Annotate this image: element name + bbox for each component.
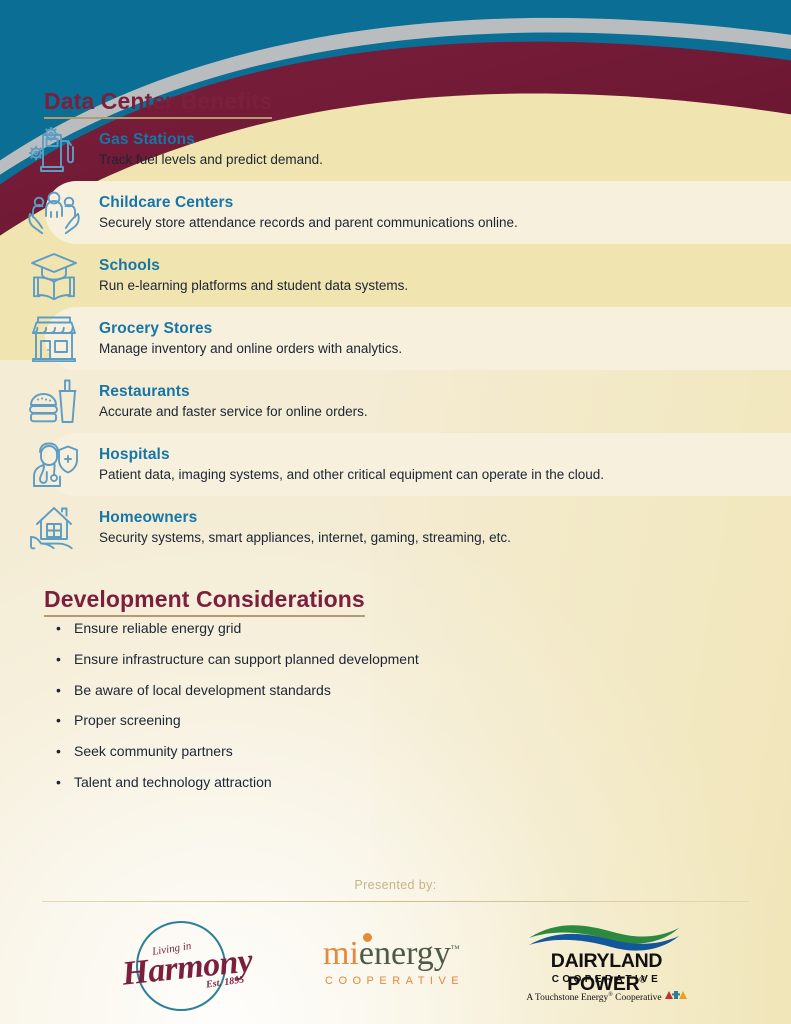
benefits-list: Gas Stations Track fuel levels and predi… [0,118,791,559]
list-item-label: Ensure infrastructure can support planne… [74,651,419,668]
benefit-row-restaurants[interactable]: Restaurants Accurate and faster service … [0,370,791,433]
benefit-row-gas-stations[interactable]: Gas Stations Track fuel levels and predi… [0,118,791,181]
benefit-title: Childcare Centers [99,194,518,212]
benefit-description: Run e-learning platforms and student dat… [99,278,408,294]
benefit-description: Accurate and faster service for online o… [99,404,368,420]
benefit-row-homeowners[interactable]: Homeowners Security systems, smart appli… [0,496,791,559]
benefit-text: Childcare Centers Securely store attenda… [99,194,518,231]
touchstone-text: A Touchstone Energy [526,993,608,1003]
content-layer: Data Center Benefits [0,0,791,1024]
benefit-title: Restaurants [99,383,368,401]
benefits-heading: Data Center Benefits [44,88,272,119]
list-item: • Seek community partners [56,743,656,760]
benefit-row-schools[interactable]: Schools Run e-learning platforms and stu… [0,244,791,307]
benefit-row-hospitals[interactable]: Hospitals Patient data, imaging systems,… [0,433,791,496]
bullet-glyph: • [56,620,74,637]
list-item: • Be aware of local development standard… [56,682,656,699]
benefit-description: Track fuel levels and predict demand. [99,152,323,168]
list-item: • Ensure reliable energy grid [56,620,656,637]
house-in-hand-icon [17,499,91,557]
touchstone-tail: Cooperative [613,993,662,1003]
benefits-heading-text: Data Center Benefits [44,88,272,119]
list-item-label: Seek community partners [74,743,233,760]
graduation-cap-book-icon [17,247,91,305]
benefit-title: Hospitals [99,446,604,464]
storefront-awning-icon [17,310,91,368]
benefit-description: Patient data, imaging systems, and other… [99,467,604,483]
dairyland-wordmark-text: DAIRYLAND POWER [551,950,662,995]
mienergy-suffix: energy [359,935,451,972]
benefit-text: Grocery Stores Manage inventory and onli… [99,320,402,357]
benefit-title: Homeowners [99,509,511,527]
list-item: • Ensure infrastructure can support plan… [56,651,656,668]
list-item-label: Proper screening [74,712,181,729]
development-heading: Development Considerations [44,586,365,617]
benefit-title: Schools [99,257,408,275]
benefit-description: Manage inventory and online orders with … [99,341,402,357]
list-item: • Proper screening [56,712,656,729]
living-in-harmony-logo[interactable]: Living in Harmony Est. 1895 [100,905,300,1020]
benefit-row-grocery-stores[interactable]: Grocery Stores Manage inventory and onli… [0,307,791,370]
benefit-text: Schools Run e-learning platforms and stu… [99,257,408,294]
dairyland-wave-icon [527,922,682,952]
gas-pump-gears-icon [17,121,91,179]
burger-drink-icon [17,373,91,431]
bullet-glyph: • [56,774,74,791]
mienergy-cooperative-logo[interactable]: mienergy™ COOPERATIVE [310,905,490,1020]
dairyland-tagline: COOPERATIVE [517,974,697,985]
mienergy-prefix: mi [323,935,359,972]
footer-logos: Living in Harmony Est. 1895 mienergy™ CO… [0,905,791,1020]
benefit-text: Hospitals Patient data, imaging systems,… [99,446,604,483]
dairyland-power-cooperative-logo[interactable]: DAIRYLAND POWER® COOPERATIVE A Touchston… [505,905,705,1020]
benefit-description: Security systems, smart appliances, inte… [99,530,511,546]
touchstone-energy-icon [665,990,687,1005]
dairyland-touchstone-line: A Touchstone Energy® Cooperative [517,990,697,1005]
development-list: • Ensure reliable energy grid • Ensure i… [56,620,656,805]
benefit-title: Gas Stations [99,131,323,149]
development-heading-text: Development Considerations [44,586,365,617]
bullet-glyph: • [56,682,74,699]
list-item-label: Be aware of local development standards [74,682,331,699]
doctor-shield-cross-icon [17,436,91,494]
benefit-title: Grocery Stores [99,320,402,338]
benefit-description: Securely store attendance records and pa… [99,215,518,231]
benefit-row-childcare-centers[interactable]: Childcare Centers Securely store attenda… [0,181,791,244]
list-item-label: Ensure reliable energy grid [74,620,241,637]
list-item: • Talent and technology attraction [56,774,656,791]
benefit-text: Gas Stations Track fuel levels and predi… [99,131,323,168]
bullet-glyph: • [56,743,74,760]
list-item-label: Talent and technology attraction [74,774,272,791]
footer-divider [42,901,749,902]
mienergy-wordmark: mienergy™ [323,937,460,971]
mienergy-trademark: ™ [451,943,460,953]
benefit-text: Homeowners Security systems, smart appli… [99,509,511,546]
presented-by-label: Presented by: [0,878,791,892]
childcare-hands-people-icon [17,184,91,242]
bullet-glyph: • [56,712,74,729]
page-root: Data Center Benefits [0,0,791,1024]
bullet-glyph: • [56,651,74,668]
mienergy-tagline: COOPERATIVE [325,975,464,987]
benefit-text: Restaurants Accurate and faster service … [99,383,368,420]
